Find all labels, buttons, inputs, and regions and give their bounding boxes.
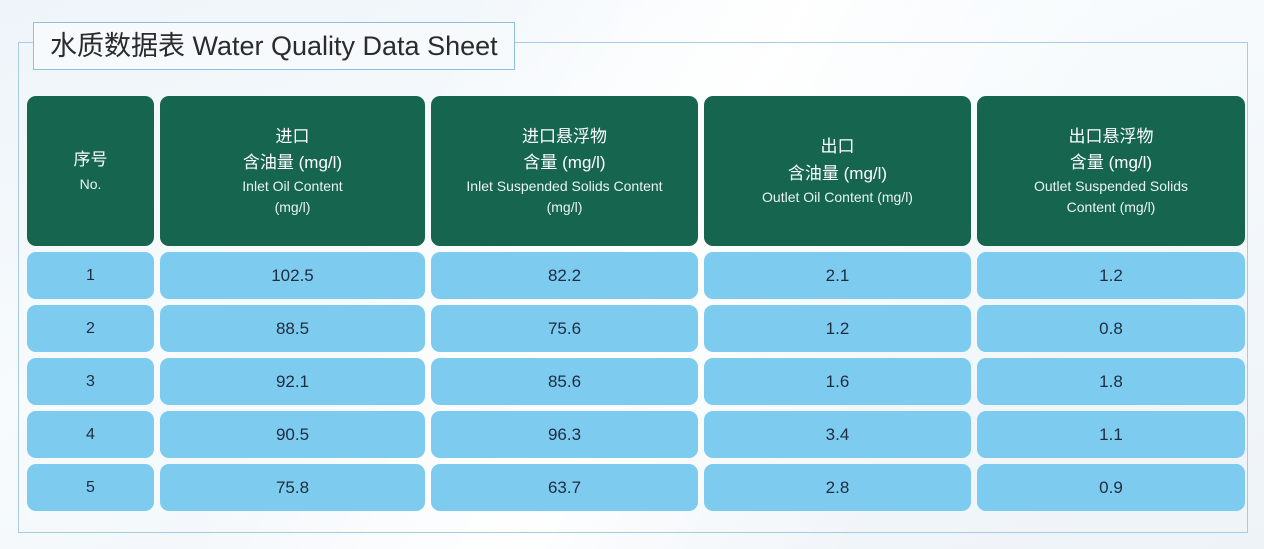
table-row: 392.185.61.61.8 [27, 358, 1239, 405]
table-cell-inlet_oil: 88.5 [160, 305, 425, 352]
header-line: 进口悬浮物 [522, 124, 607, 150]
table-cell-inlet_ss: 96.3 [431, 411, 698, 458]
header-line: 含量 (mg/l) [523, 150, 605, 176]
table-cell-outlet_oil: 1.2 [704, 305, 971, 352]
table-cell-inlet_oil: 75.8 [160, 464, 425, 511]
table-cell-outlet_oil: 2.8 [704, 464, 971, 511]
header-line: 含量 (mg/l) [1070, 150, 1152, 176]
table-row: 288.575.61.20.8 [27, 305, 1239, 352]
table-cell-outlet_ss: 1.1 [977, 411, 1245, 458]
header-line: 含油量 (mg/l) [788, 161, 887, 187]
header-line: 出口 [821, 134, 855, 160]
table-header-row: 序号No.进口含油量 (mg/l)Inlet Oil Content(mg/l)… [27, 96, 1239, 246]
table-cell-inlet_ss: 82.2 [431, 252, 698, 299]
page-title: 水质数据表 Water Quality Data Sheet [50, 33, 498, 60]
table-header-cell-outlet_oil: 出口含油量 (mg/l)Outlet Oil Content (mg/l) [704, 96, 971, 246]
table-header-cell-inlet_ss: 进口悬浮物含量 (mg/l)Inlet Suspended Solids Con… [431, 96, 698, 246]
header-line: Content (mg/l) [1067, 197, 1156, 218]
table-cell-inlet_ss: 63.7 [431, 464, 698, 511]
header-line: Inlet Suspended Solids Content [466, 176, 662, 197]
header-line: 进口 [276, 124, 310, 150]
table-cell-outlet_ss: 0.9 [977, 464, 1245, 511]
table-cell-no: 5 [27, 464, 154, 511]
header-line: 序号 [74, 147, 108, 173]
table-header-cell-no: 序号No. [27, 96, 154, 246]
water-quality-table: 序号No.进口含油量 (mg/l)Inlet Oil Content(mg/l)… [27, 96, 1239, 517]
table-cell-inlet_oil: 90.5 [160, 411, 425, 458]
table-cell-no: 2 [27, 305, 154, 352]
header-line: 出口悬浮物 [1069, 124, 1154, 150]
table-row: 490.596.33.41.1 [27, 411, 1239, 458]
header-line: No. [80, 174, 102, 195]
table-header-cell-outlet_ss: 出口悬浮物含量 (mg/l)Outlet Suspended SolidsCon… [977, 96, 1245, 246]
header-line: Inlet Oil Content [242, 176, 342, 197]
table-cell-outlet_oil: 1.6 [704, 358, 971, 405]
table-row: 575.863.72.80.9 [27, 464, 1239, 511]
table-cell-no: 4 [27, 411, 154, 458]
table-row: 1102.582.22.11.2 [27, 252, 1239, 299]
table-cell-inlet_ss: 75.6 [431, 305, 698, 352]
header-line: (mg/l) [275, 197, 311, 218]
table-cell-inlet_oil: 92.1 [160, 358, 425, 405]
table-cell-no: 3 [27, 358, 154, 405]
table-cell-outlet_ss: 1.8 [977, 358, 1245, 405]
table-cell-inlet_ss: 85.6 [431, 358, 698, 405]
table-cell-outlet_oil: 2.1 [704, 252, 971, 299]
header-line: Outlet Oil Content (mg/l) [762, 187, 913, 208]
table-cell-inlet_oil: 102.5 [160, 252, 425, 299]
table-cell-outlet_ss: 0.8 [977, 305, 1245, 352]
table-header-cell-inlet_oil: 进口含油量 (mg/l)Inlet Oil Content(mg/l) [160, 96, 425, 246]
table-cell-outlet_oil: 3.4 [704, 411, 971, 458]
table-cell-no: 1 [27, 252, 154, 299]
table-cell-outlet_ss: 1.2 [977, 252, 1245, 299]
title-plate: 水质数据表 Water Quality Data Sheet [33, 22, 515, 70]
header-line: (mg/l) [547, 197, 583, 218]
table-body: 1102.582.22.11.2288.575.61.20.8392.185.6… [27, 252, 1239, 511]
header-line: Outlet Suspended Solids [1034, 176, 1188, 197]
header-line: 含油量 (mg/l) [243, 150, 342, 176]
